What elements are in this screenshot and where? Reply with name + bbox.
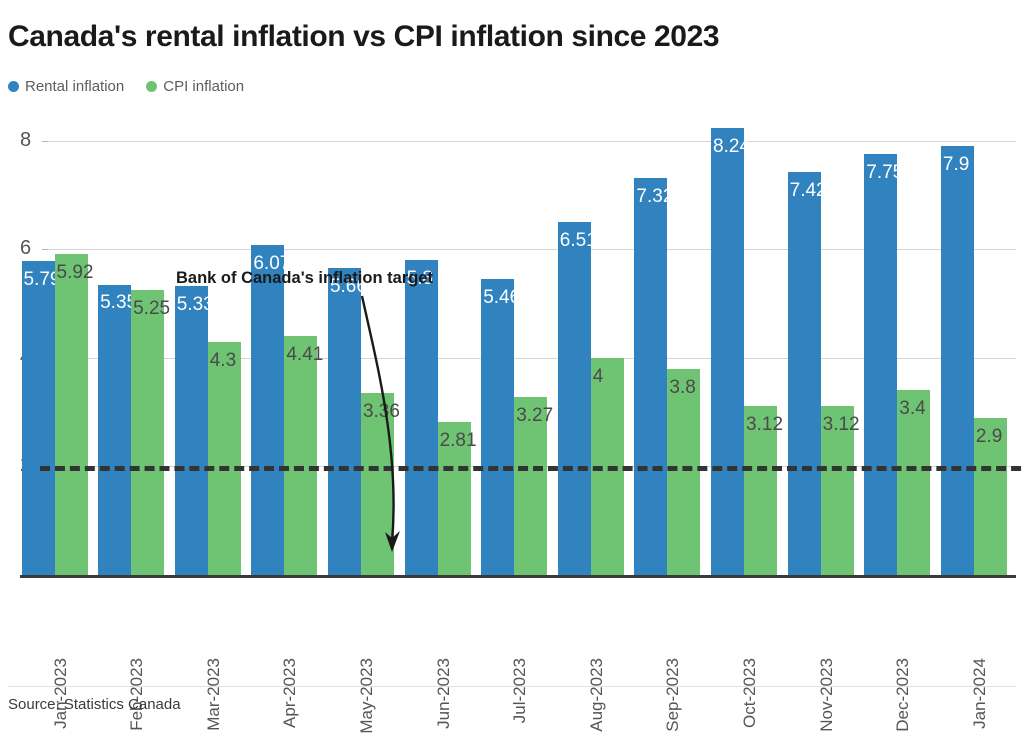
bar-value-label: 5.92 [57,263,94,282]
circle-icon [8,81,19,92]
bar[interactable] [711,128,744,575]
legend-label-cpi: CPI inflation [163,78,244,95]
bar[interactable] [481,279,514,575]
bar[interactable] [558,222,591,575]
x-axis-labels: Jan-2023Feb-2023Mar-2023Apr-2023May-2023… [20,580,1016,660]
bar[interactable] [634,178,667,575]
bar[interactable] [131,290,164,575]
bar[interactable] [22,261,55,575]
x-axis-label: Jun-2023 [434,658,454,729]
legend-label-rental: Rental inflation [25,78,124,95]
bar-value-label: 3.27 [516,406,553,425]
bar-value-label: 4 [593,367,604,386]
bar-value-label: 2.9 [976,427,1002,446]
circle-icon [146,81,157,92]
x-axis-label: Jan-2024 [970,658,990,729]
bar-value-label: 7.42 [790,181,827,200]
x-axis-label: Jan-2023 [51,658,71,729]
gridline [46,141,1016,142]
x-axis-label: Mar-2023 [204,658,224,731]
chart-figure: Canada's rental inflation vs CPI inflati… [0,0,1024,721]
y-tick-label: 8 [20,129,42,152]
bar-value-label: 3.36 [363,402,400,421]
bar-value-label: 2.81 [440,431,477,450]
bar-value-label: 4.3 [210,351,236,370]
bar-value-label: 3.12 [823,415,860,434]
y-tick-label: 6 [20,237,42,260]
bar[interactable] [788,172,821,575]
bar[interactable] [175,286,208,575]
x-axis-line [20,575,1016,578]
y-tick-mark [42,249,48,250]
bar-value-label: 6.51 [560,231,597,250]
reference-line-inflation-target [40,466,1024,471]
plot-inner: 2468 5.795.925.355.255.334.36.074.415.66… [20,110,1016,576]
bar[interactable] [98,285,131,576]
annotation-label: Bank of Canada's inflation target [176,269,433,288]
bar-value-label: 3.12 [746,415,783,434]
bar-value-label: 3.4 [899,399,925,418]
legend-item-rental[interactable]: Rental inflation [8,78,124,95]
bar-value-label: 5.25 [133,299,170,318]
bar-value-label: 7.32 [636,187,673,206]
bar[interactable] [328,268,361,575]
bar-value-label: 5.33 [177,295,214,314]
x-axis-label: Feb-2023 [127,658,147,731]
bar[interactable] [55,254,88,575]
legend-item-cpi[interactable]: CPI inflation [146,78,244,95]
bar[interactable] [208,342,241,575]
bar-value-label: 8.24 [713,137,750,156]
chart-title: Canada's rental inflation vs CPI inflati… [8,20,719,54]
bar[interactable] [251,245,284,575]
bar[interactable] [941,146,974,575]
y-tick-mark [42,141,48,142]
bar[interactable] [284,336,317,575]
bar[interactable] [864,154,897,575]
plot-area: 2468 5.795.925.355.255.334.36.074.415.66… [0,110,1024,580]
bar-value-label: 5.46 [483,288,520,307]
x-axis-label: Jul-2023 [510,658,530,723]
bar-value-label: 4.41 [286,345,323,364]
bar-value-label: 7.75 [866,163,903,182]
x-axis-label: Oct-2023 [740,658,760,728]
source-note: Source: Statistics Canada [8,696,181,713]
x-axis-label: Apr-2023 [280,658,300,728]
x-axis-label: May-2023 [357,658,377,734]
bar[interactable] [667,369,700,575]
footer-divider [8,686,1016,687]
bar[interactable] [405,260,438,575]
chart-legend: Rental inflation CPI inflation [8,76,244,96]
bar-value-label: 7.9 [943,155,969,174]
bar-value-label: 3.8 [669,378,695,397]
